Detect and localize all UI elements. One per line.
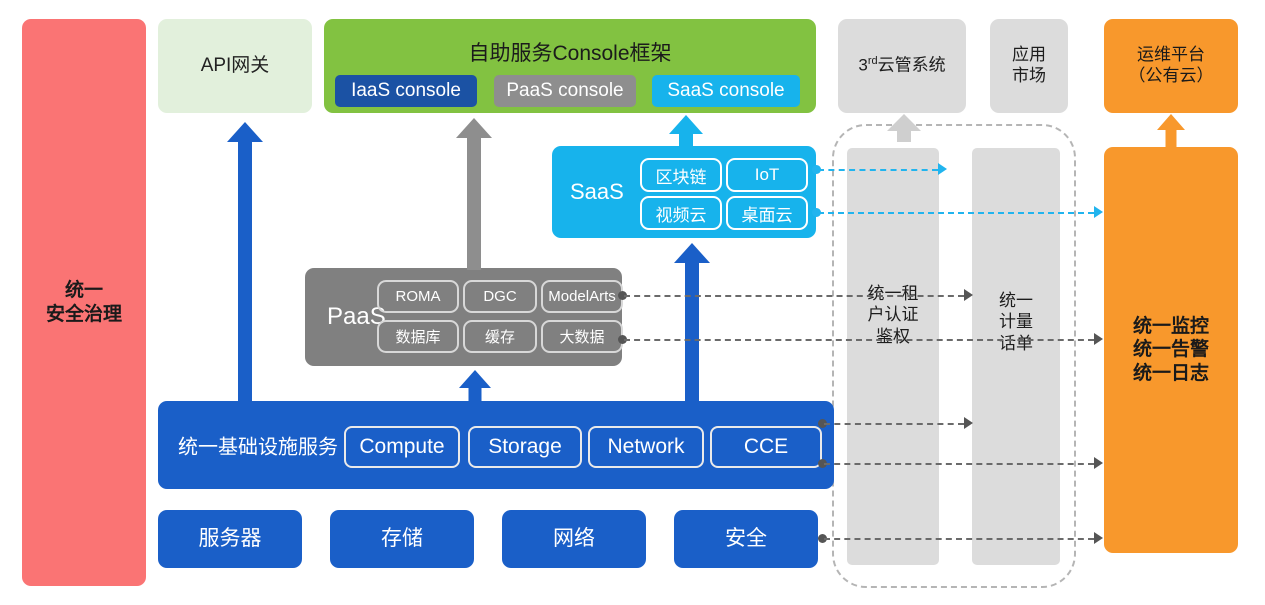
arrow-infra-to-saas bbox=[674, 243, 710, 403]
paas-chip-roma[interactable]: ROMA bbox=[377, 280, 459, 313]
unified-infrastructure-band: 统一基础设施服务 Compute Storage Network CCE bbox=[158, 401, 834, 489]
paas-chip-bigdata[interactable]: 大数据 bbox=[541, 320, 623, 353]
connector-infra-to-auth bbox=[824, 423, 964, 425]
resource-box-network[interactable]: 网络 bbox=[502, 510, 646, 568]
connector-arrowhead-resources-ops bbox=[1094, 532, 1103, 544]
auth-service-label: 统一租 户认证 鉴权 bbox=[847, 283, 939, 347]
auth-line3: 鉴权 bbox=[847, 326, 939, 347]
third-party-cloud-mgmt-label: 3rd云管系统 bbox=[858, 55, 945, 76]
ops-col-line2: 统一告警 bbox=[1133, 338, 1209, 361]
ops-platform-top-box[interactable]: 运维平台 （公有云） bbox=[1104, 19, 1238, 113]
ops-col-line1: 统一监控 bbox=[1133, 315, 1209, 338]
auth-line1: 统一租 bbox=[847, 283, 939, 304]
infra-chip-storage[interactable]: Storage bbox=[468, 426, 582, 468]
paas-chip-database[interactable]: 数据库 bbox=[377, 320, 459, 353]
console-framework-title: 自助服务Console框架 bbox=[324, 41, 816, 67]
metering-line1: 统一 bbox=[972, 290, 1060, 311]
arrow-infra-to-api-gateway bbox=[227, 122, 263, 402]
infra-chip-cce[interactable]: CCE bbox=[710, 426, 822, 468]
saas-chip-desktop-cloud[interactable]: 桌面云 bbox=[726, 196, 808, 230]
paas-chip-cache[interactable]: 缓存 bbox=[463, 320, 537, 353]
saas-console-chip[interactable]: SaaS console bbox=[652, 75, 800, 107]
security-governance-line1: 统一 bbox=[65, 279, 103, 302]
auth-line2: 户认证 bbox=[847, 304, 939, 325]
connector-saas-to-auth bbox=[818, 169, 938, 171]
third-party-cloud-mgmt-box[interactable]: 3rd云管系统 bbox=[838, 19, 966, 113]
paas-console-chip[interactable]: PaaS console bbox=[494, 75, 636, 107]
saas-chip-iot[interactable]: IoT bbox=[726, 158, 808, 192]
saas-panel-label: SaaS bbox=[570, 179, 624, 205]
arrow-ops-column-to-ops-platform bbox=[1157, 114, 1185, 148]
ops-col-line3: 统一日志 bbox=[1133, 362, 1209, 385]
paas-panel: PaaS ROMA DGC ModelArts 数据库 缓存 大数据 bbox=[305, 268, 622, 366]
infra-chip-network[interactable]: Network bbox=[588, 426, 704, 468]
unified-infrastructure-label: 统一基础设施服务 bbox=[178, 431, 338, 460]
security-governance-line2: 安全治理 bbox=[46, 303, 122, 326]
saas-chip-blockchain[interactable]: 区块链 bbox=[640, 158, 722, 192]
connector-arrowhead-saas-auth bbox=[938, 163, 947, 175]
connector-saas-to-ops bbox=[818, 212, 1094, 214]
app-market-line1: 应用 bbox=[1012, 45, 1046, 66]
resource-box-security[interactable]: 安全 bbox=[674, 510, 818, 568]
iaas-console-chip[interactable]: IaaS console bbox=[335, 75, 477, 107]
connector-arrowhead-paas-ops bbox=[1094, 333, 1103, 345]
connector-resources-to-ops bbox=[824, 538, 1094, 540]
saas-panel: SaaS 区块链 IoT 视频云 桌面云 bbox=[552, 146, 816, 238]
connector-paas-to-auth bbox=[624, 295, 964, 297]
paas-chip-dgc[interactable]: DGC bbox=[463, 280, 537, 313]
infra-chip-compute[interactable]: Compute bbox=[344, 426, 460, 468]
ops-platform-line2: （公有云） bbox=[1129, 66, 1214, 87]
api-gateway-label: API网关 bbox=[201, 54, 270, 77]
arrow-saas-to-console bbox=[669, 115, 703, 148]
security-governance-column: 统一 安全治理 bbox=[22, 19, 146, 586]
third-party-superscript: rd bbox=[868, 55, 878, 67]
arrow-infra-to-paas bbox=[459, 370, 491, 403]
metering-service-label: 统一 计量 话单 bbox=[972, 290, 1060, 354]
resource-box-server[interactable]: 服务器 bbox=[158, 510, 302, 568]
connector-arrowhead-saas-ops bbox=[1094, 206, 1103, 218]
ops-monitoring-column: 统一监控 统一告警 统一日志 bbox=[1104, 147, 1238, 553]
console-framework-panel: 自助服务Console框架 IaaS console PaaS console … bbox=[324, 19, 816, 113]
connector-arrowhead-infra-auth bbox=[964, 417, 973, 429]
metering-service-strip bbox=[972, 148, 1060, 565]
app-market-line2: 市场 bbox=[1012, 66, 1046, 87]
connector-infra-to-ops bbox=[824, 463, 1094, 465]
paas-chip-modelarts[interactable]: ModelArts bbox=[541, 280, 623, 313]
saas-chip-video-cloud[interactable]: 视频云 bbox=[640, 196, 722, 230]
arrow-shared-to-third-party bbox=[887, 114, 921, 142]
metering-line2: 计量 bbox=[972, 311, 1060, 332]
api-gateway-box[interactable]: API网关 bbox=[158, 19, 312, 113]
resource-box-storage[interactable]: 存储 bbox=[330, 510, 474, 568]
app-market-box[interactable]: 应用 市场 bbox=[990, 19, 1068, 113]
metering-line3: 话单 bbox=[972, 333, 1060, 354]
auth-service-strip bbox=[847, 148, 939, 565]
ops-platform-line1: 运维平台 bbox=[1137, 45, 1205, 66]
connector-arrowhead-paas-auth bbox=[964, 289, 973, 301]
connector-paas-to-ops bbox=[624, 339, 1094, 341]
arrow-paas-to-console bbox=[456, 118, 492, 270]
connector-arrowhead-infra-ops bbox=[1094, 457, 1103, 469]
architecture-diagram: 统一 安全治理 API网关 自助服务Console框架 IaaS console… bbox=[0, 0, 1265, 605]
